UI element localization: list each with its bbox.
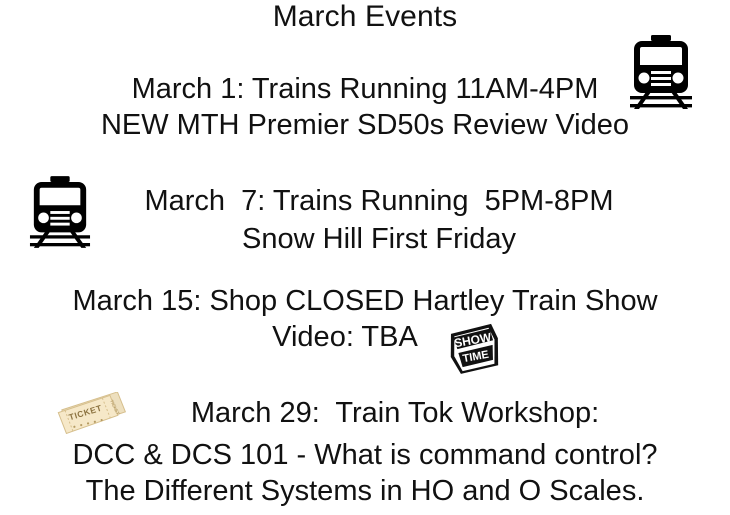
train-front-icon [29, 176, 91, 248]
train-front-icon [629, 35, 693, 109]
show-time-sticker-icon: SHOW TIME [446, 322, 504, 376]
event-line-march-7-secondary: Snow Hill First Friday [14, 221, 730, 257]
event-line-march-29-primary: March 29: Train Tok Workshop: [30, 395, 730, 431]
page-title: March Events [0, 0, 730, 34]
event-line-march-15-secondary: Video: TBA [0, 319, 710, 355]
ticket-icon: TICKET TICKET [55, 392, 131, 434]
event-line-march-7-primary: March 7: Trains Running 5PM-8PM [14, 183, 730, 219]
march-events-poster: March Events March 1: Trains Running 11A… [0, 0, 730, 515]
event-line-march-29-tertiary: The Different Systems in HO and O Scales… [0, 473, 730, 509]
event-line-march-1-primary: March 1: Trains Running 11AM-4PM [0, 71, 730, 107]
event-line-march-15-primary: March 15: Shop CLOSED Hartley Train Show [0, 283, 730, 319]
event-line-march-1-secondary: NEW MTH Premier SD50s Review Video [0, 107, 730, 143]
event-line-march-29-secondary: DCC & DCS 101 - What is command control? [0, 437, 730, 473]
